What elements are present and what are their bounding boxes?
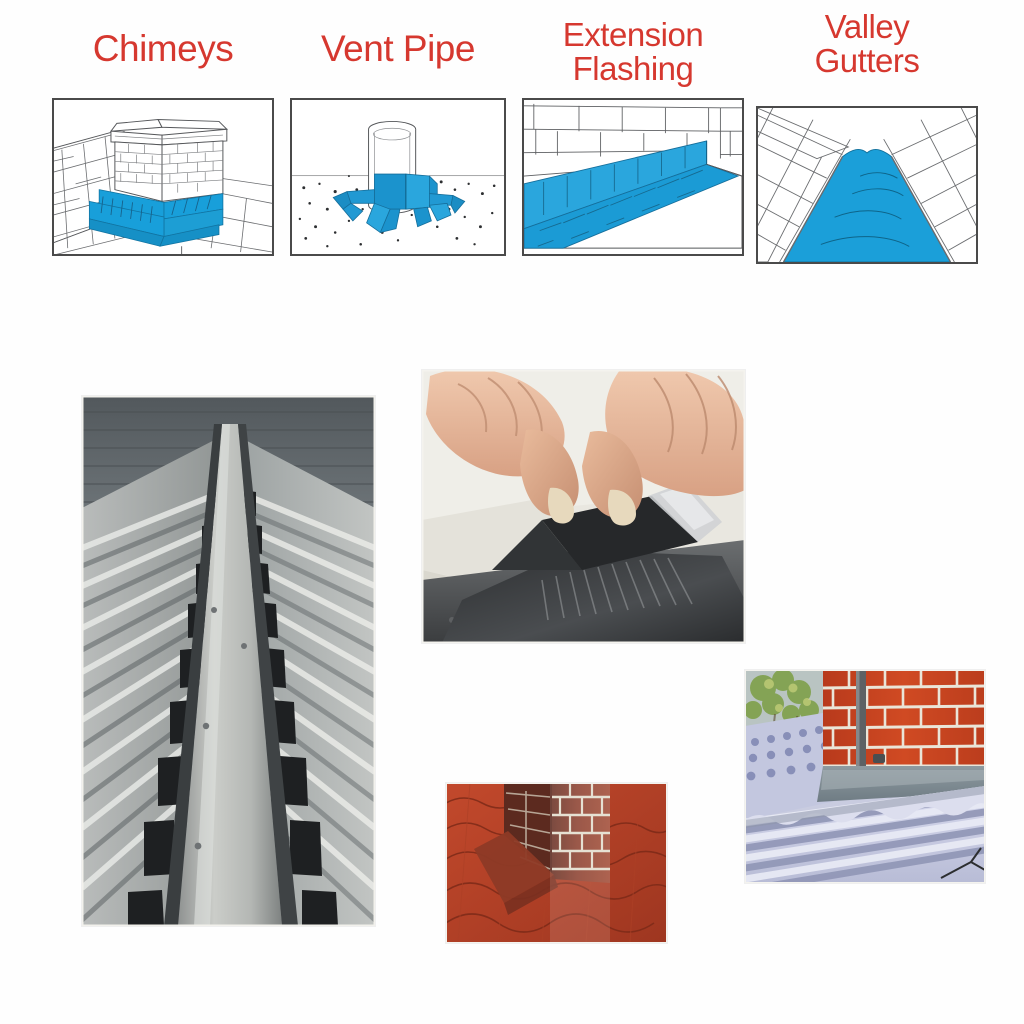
ridge-capping-photo[interactable]: [82, 396, 375, 926]
vent-pipe-flashing-diagram: [290, 98, 506, 256]
peeling-liner-photo[interactable]: [422, 370, 745, 643]
diagram-panel-valley-gutters[interactable]: Valley Gutters: [756, 0, 978, 264]
diagram-panel-chimneys-label: Chimeys: [52, 0, 274, 62]
wall-abutment-photo[interactable]: [745, 670, 985, 883]
extension-flashing-diagram: [522, 98, 744, 256]
diagram-panel-vent-pipe-label: Vent Pipe: [290, 0, 506, 62]
diagram-panel-chimneys[interactable]: Chimeys: [52, 0, 274, 256]
diagram-panel-vent-pipe[interactable]: Vent Pipe: [290, 0, 506, 256]
chimney-flashing-diagram: [52, 98, 274, 256]
brick-chimney-photo[interactable]: [446, 783, 667, 943]
diagram-panel-extension-flashing-label: Extension Flashing: [522, 0, 744, 84]
valley-gutter-diagram: [756, 106, 978, 264]
poster-canvas: Chimeys: [0, 0, 1024, 1024]
diagram-panel-extension-flashing[interactable]: Extension Flashing: [522, 0, 744, 256]
diagram-panel-valley-gutters-label: Valley Gutters: [756, 0, 978, 84]
